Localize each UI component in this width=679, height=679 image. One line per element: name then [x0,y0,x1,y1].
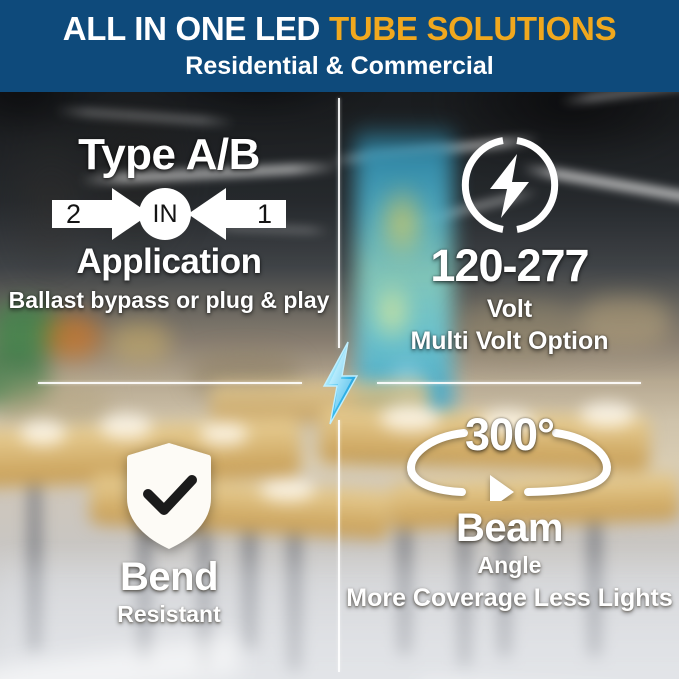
shield-check-icon [0,440,338,552]
feature-voltage: 120-277 Volt Multi Volt Option [340,132,679,356]
voltage-unit: Volt [340,294,679,324]
application-label: Application [0,242,338,282]
feature-application: Type A/B 2 IN 1 Application Ballast bypa… [0,130,338,314]
voltage-value: 120-277 [340,240,679,292]
application-heading: Type A/B [0,130,338,180]
header-banner: ALL IN ONE LED TUBE SOLUTIONS Residentia… [0,0,679,92]
divider-horizontal-left [38,382,302,384]
lightning-bolt-icon [312,340,368,426]
arrow-badge-right: 1 [257,200,272,228]
rotation-arc-arrow-icon: 300° [390,415,630,501]
feature-beam-angle: 300° Beam Angle More Coverage Less Light… [340,415,679,613]
header-subtitle: Residential & Commercial [0,50,679,82]
bend-description: Resistant [0,600,338,628]
header-title-white: ALL IN ONE LED [63,10,329,47]
bend-label: Bend [0,554,338,600]
beam-angle-value: 300° [390,409,630,461]
arrow-badge-center: IN [139,188,191,240]
lightning-bolt-circle-icon [340,132,679,238]
arrow-badge-left: 2 [66,200,81,228]
beam-description: More Coverage Less Lights [340,583,679,613]
header-title: ALL IN ONE LED TUBE SOLUTIONS [0,8,679,50]
divider-horizontal-right [377,382,641,384]
beam-label: Beam [340,505,679,551]
header-title-gold: TUBE SOLUTIONS [329,10,616,47]
voltage-description: Multi Volt Option [340,326,679,356]
feature-bend-resistant: Bend Resistant [0,440,338,628]
two-in-one-arrows-icon: 2 IN 1 [44,186,294,242]
beam-sublabel: Angle [340,551,679,579]
infographic-poster: ALL IN ONE LED TUBE SOLUTIONS Residentia… [0,0,679,679]
application-description: Ballast bypass or plug & play [0,286,338,314]
